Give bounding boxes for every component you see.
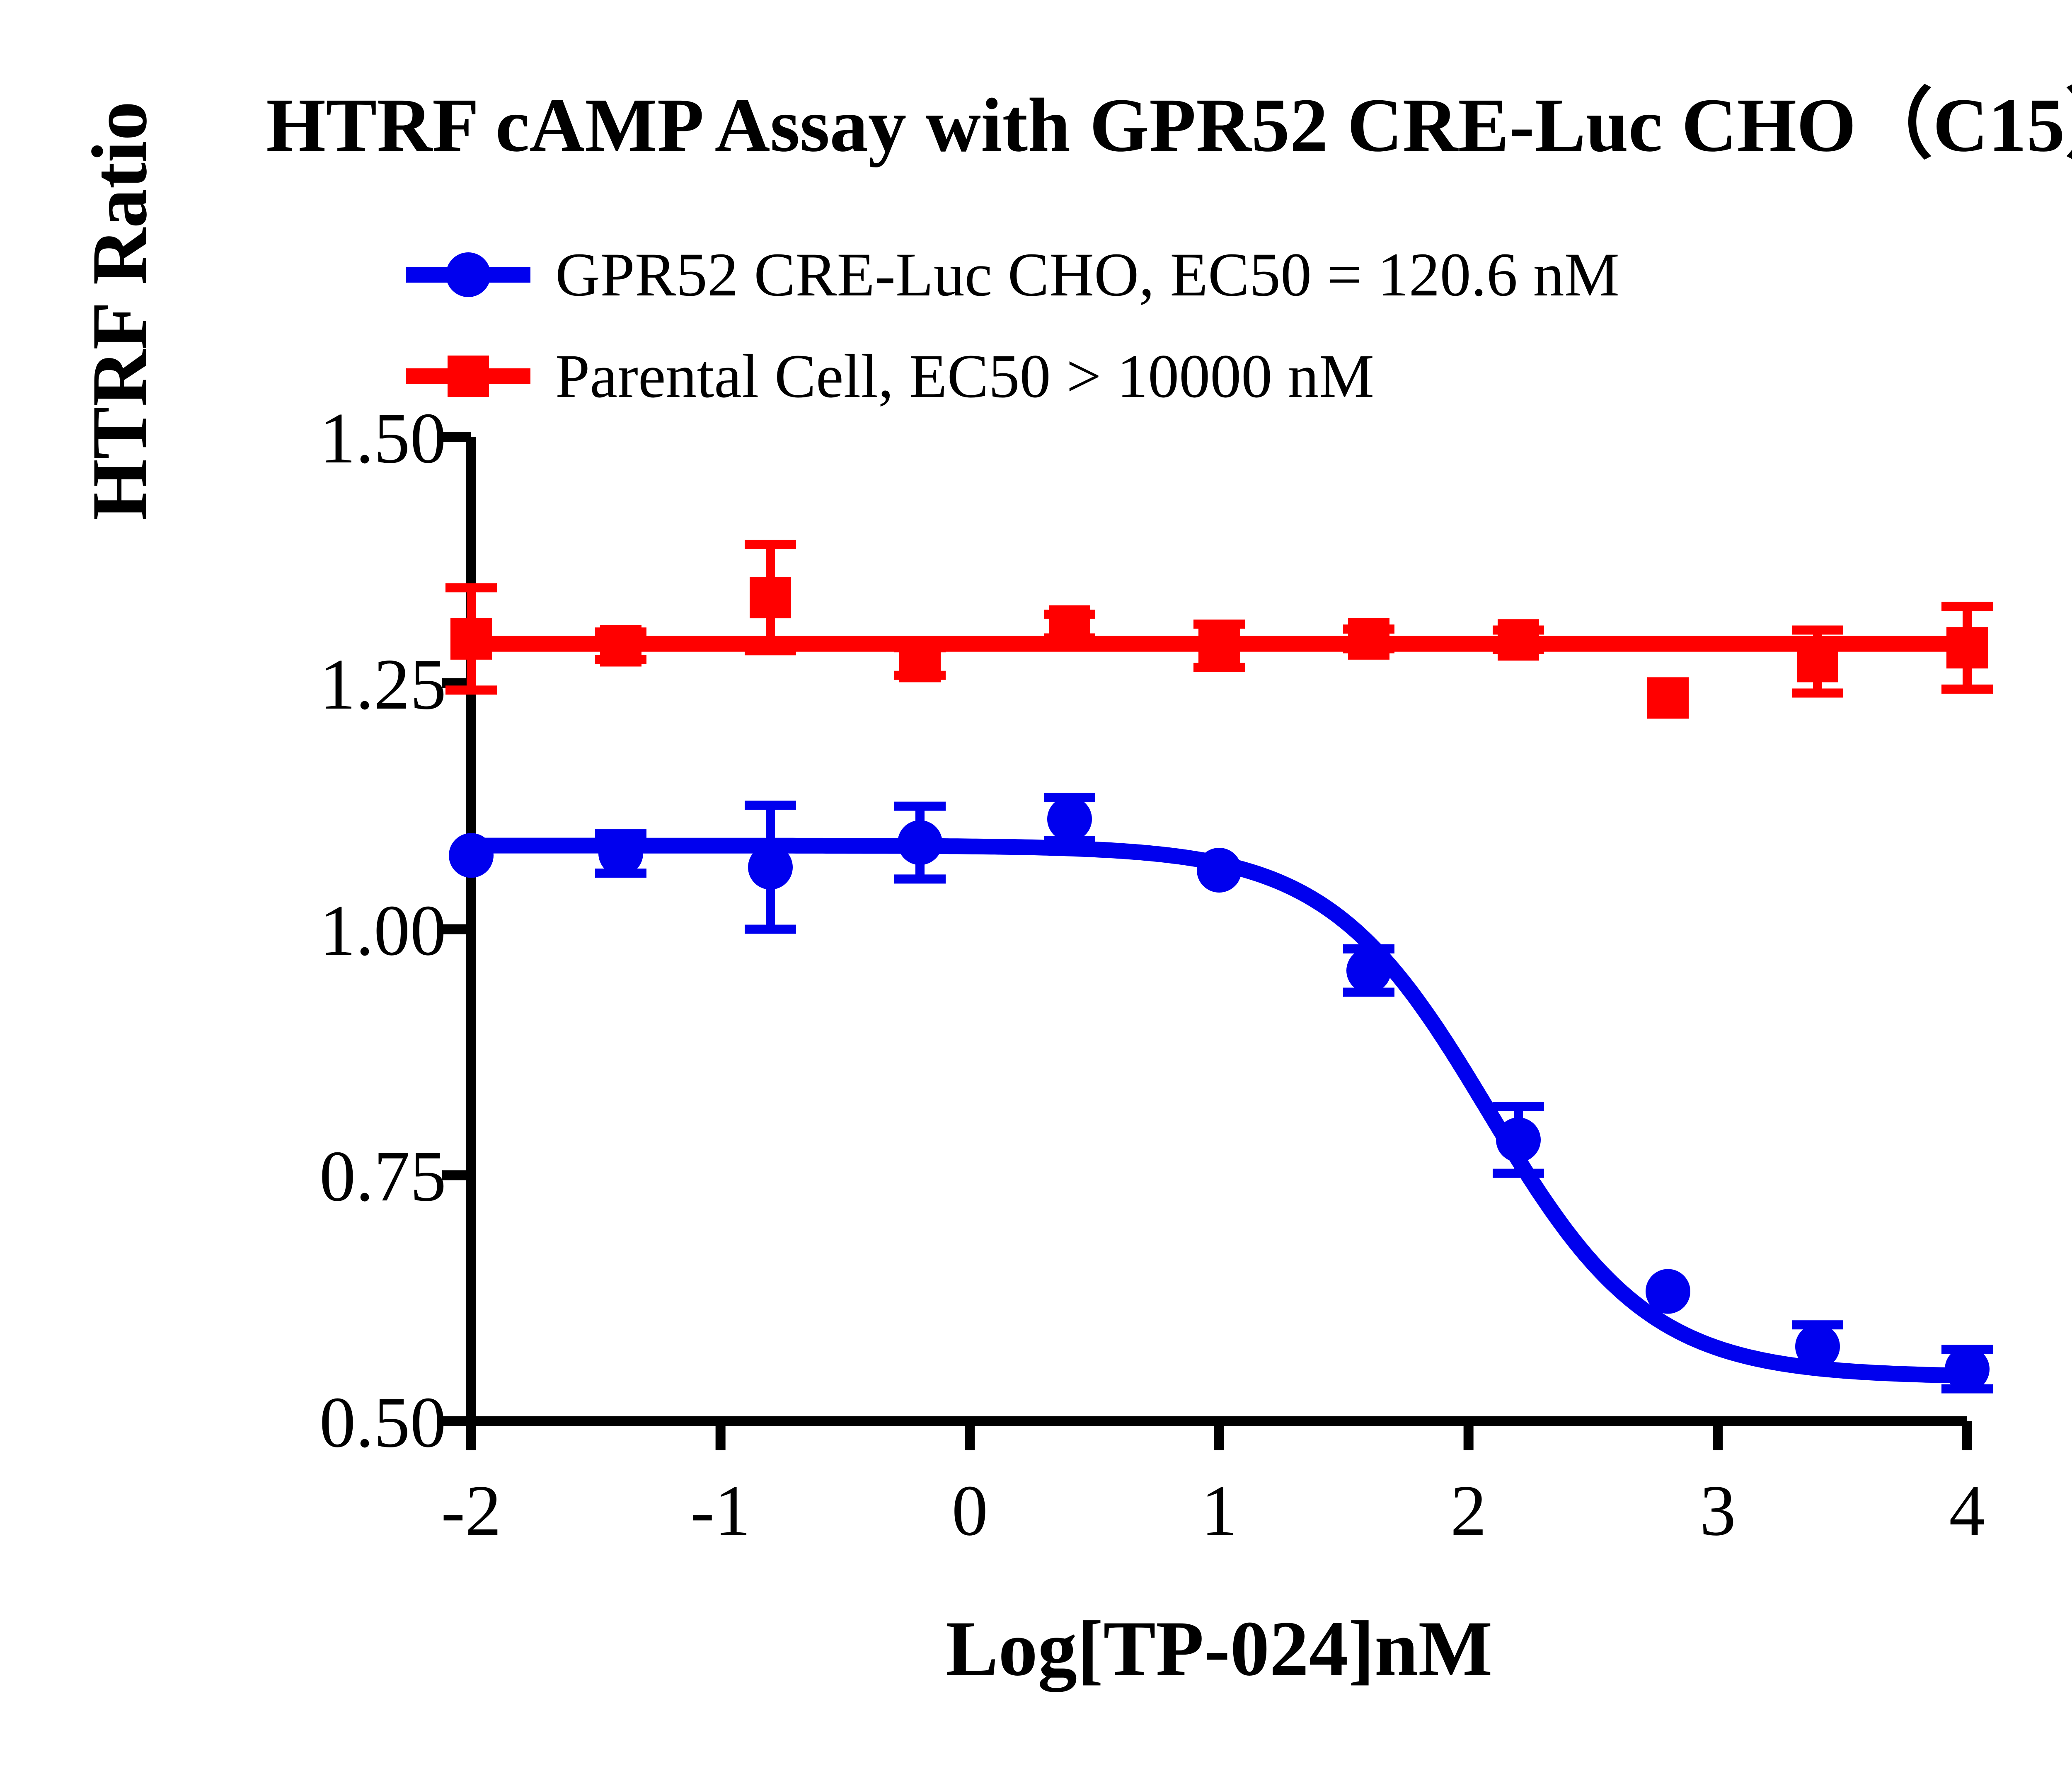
series-line-gpr52: [471, 846, 1967, 1376]
data-point-gpr52: [1197, 848, 1242, 893]
data-point-gpr52: [1646, 1269, 1690, 1314]
data-point-gpr52: [1795, 1324, 1840, 1369]
data-point-gpr52: [449, 833, 494, 878]
data-point-gpr52: [1047, 797, 1092, 842]
data-point-parental: [1348, 618, 1389, 660]
data-point-parental: [1797, 641, 1838, 682]
data-point-gpr52: [598, 831, 643, 876]
data-point-parental: [1198, 625, 1240, 667]
data-point-gpr52: [1945, 1347, 1990, 1391]
data-point-parental: [750, 577, 791, 618]
data-point-parental: [450, 618, 492, 660]
data-point-gpr52: [898, 820, 942, 865]
data-point-gpr52: [748, 845, 793, 890]
data-point-parental: [899, 641, 941, 682]
data-point-parental: [1647, 677, 1689, 719]
data-point-parental: [1049, 605, 1090, 647]
chart-figure: HTRF cAMP Assay with GPR52 CRE-Luc CHO（C…: [0, 0, 2072, 1776]
data-point-gpr52: [1496, 1118, 1541, 1162]
data-point-parental: [1946, 627, 1988, 668]
plot-area: [0, 0, 2072, 1776]
data-point-parental: [1498, 619, 1539, 661]
data-point-parental: [600, 625, 641, 667]
data-point-gpr52: [1346, 948, 1391, 993]
